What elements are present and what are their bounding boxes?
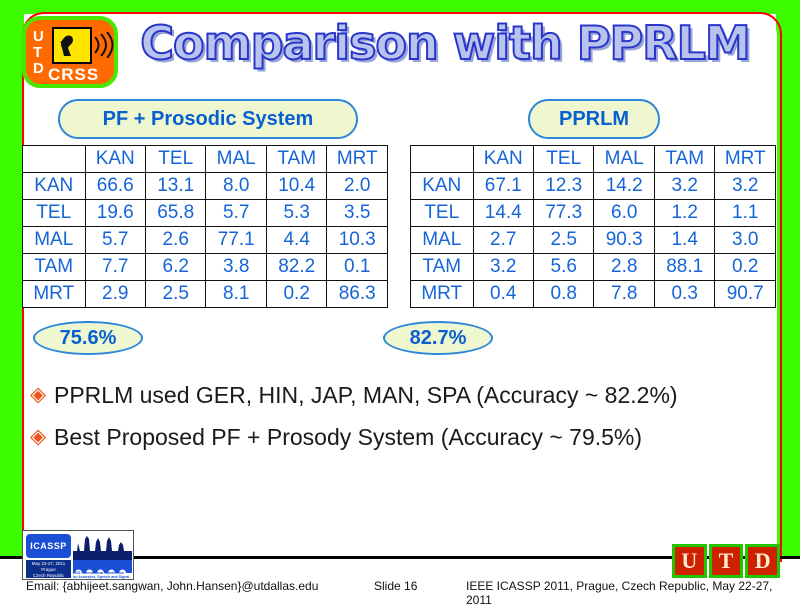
- row-header-tel: TEL: [411, 200, 474, 227]
- row-header-mal: MAL: [411, 227, 474, 254]
- accuracy-badge-right: 82.7%: [383, 321, 493, 355]
- cell-tam-mal: 2.8: [594, 254, 654, 281]
- cell-mal-tel: 2.6: [145, 227, 205, 254]
- icassp-wordmark: ICASSP: [26, 534, 71, 558]
- table-body: KAN67.112.314.23.23.2TEL14.477.36.01.21.…: [411, 173, 776, 308]
- row-header-tam: TAM: [411, 254, 474, 281]
- table-header-row: KANTELMALTAMMRT: [411, 146, 776, 173]
- footer-conference: IEEE ICASSP 2011, Prague, Czech Republic…: [466, 579, 800, 607]
- cell-mal-tam: 4.4: [266, 227, 326, 254]
- utd-letter-d: D: [745, 544, 780, 578]
- cell-mrt-tam: 0.3: [654, 281, 714, 308]
- cell-tam-tel: 6.2: [145, 254, 205, 281]
- panel-caption-right: PPRLM: [528, 99, 660, 139]
- cell-tam-tam: 88.1: [654, 254, 714, 281]
- cell-mrt-tam: 0.2: [266, 281, 326, 308]
- footer-slide-number: Slide 16: [374, 579, 417, 593]
- cell-mrt-kan: 2.9: [85, 281, 145, 308]
- slide-title: Comparison with PPRLM: [120, 14, 770, 74]
- cell-tel-tel: 77.3: [533, 200, 593, 227]
- diamond-bullet-icon: ◈: [30, 380, 54, 410]
- cell-tel-kan: 19.6: [85, 200, 145, 227]
- confusion-matrix-pprlm: KANTELMALTAMMRT KAN67.112.314.23.23.2TEL…: [410, 145, 776, 308]
- prague-skyline-icon: [73, 533, 132, 560]
- cell-mal-kan: 2.7: [473, 227, 533, 254]
- column-header-tel: TEL: [145, 146, 205, 173]
- cell-kan-mal: 8.0: [206, 173, 266, 200]
- row-header-tam: TAM: [23, 254, 86, 281]
- table-row: KAN66.613.18.010.42.0: [23, 173, 388, 200]
- cell-mal-mrt: 3.0: [715, 227, 776, 254]
- table-corner-cell: [23, 146, 86, 173]
- column-header-mrt: MRT: [715, 146, 776, 173]
- column-header-kan: KAN: [473, 146, 533, 173]
- row-header-mrt: MRT: [23, 281, 86, 308]
- cell-mrt-mrt: 90.7: [715, 281, 776, 308]
- cell-tam-mal: 3.8: [206, 254, 266, 281]
- cell-tel-mrt: 1.1: [715, 200, 776, 227]
- row-header-tel: TEL: [23, 200, 86, 227]
- cell-mal-tel: 2.5: [533, 227, 593, 254]
- cell-tam-mrt: 0.1: [327, 254, 388, 281]
- cell-tam-tam: 82.2: [266, 254, 326, 281]
- cell-tel-mal: 6.0: [594, 200, 654, 227]
- column-header-kan: KAN: [85, 146, 145, 173]
- speaker-figure-icon: [58, 33, 86, 60]
- bullet-text: PPRLM used GER, HIN, JAP, MAN, SPA (Accu…: [54, 380, 678, 410]
- cell-kan-tam: 10.4: [266, 173, 326, 200]
- row-header-mrt: MRT: [411, 281, 474, 308]
- table-header-row: KANTELMALTAMMRT: [23, 146, 388, 173]
- crss-letter-t: T: [33, 45, 42, 60]
- icassp-logo: ICASSP May 22-27, 2011PragueCzech Republ…: [22, 530, 134, 580]
- cell-mrt-mrt: 86.3: [327, 281, 388, 308]
- cell-mal-kan: 5.7: [85, 227, 145, 254]
- cell-tel-mrt: 3.5: [327, 200, 388, 227]
- charles-bridge-icon: [73, 560, 132, 570]
- cell-mrt-tel: 0.8: [533, 281, 593, 308]
- frame-green-left: [0, 0, 24, 556]
- row-header-kan: KAN: [23, 173, 86, 200]
- utd-logo: U T D: [672, 544, 780, 578]
- crss-wordmark: CRSS: [48, 65, 99, 85]
- cell-mal-mal: 77.1: [206, 227, 266, 254]
- cell-mrt-kan: 0.4: [473, 281, 533, 308]
- cell-kan-tel: 12.3: [533, 173, 593, 200]
- cell-kan-mrt: 3.2: [715, 173, 776, 200]
- cell-tel-tel: 65.8: [145, 200, 205, 227]
- list-item: ◈ PPRLM used GER, HIN, JAP, MAN, SPA (Ac…: [30, 380, 760, 410]
- table-row: MRT0.40.87.80.390.7: [411, 281, 776, 308]
- utd-letter-u: U: [672, 544, 707, 578]
- utd-crss-logo: U T D CRSS: [22, 16, 118, 88]
- cell-tel-tam: 5.3: [266, 200, 326, 227]
- cell-kan-mal: 14.2: [594, 173, 654, 200]
- crss-letter-d: D: [33, 61, 44, 76]
- cell-tam-kan: 7.7: [85, 254, 145, 281]
- cell-kan-kan: 67.1: [473, 173, 533, 200]
- row-header-kan: KAN: [411, 173, 474, 200]
- accuracy-badge-left: 75.6%: [33, 321, 143, 355]
- column-header-tel: TEL: [533, 146, 593, 173]
- diamond-bullet-icon: ◈: [30, 422, 54, 452]
- icassp-date-block: May 22-27, 2011PragueCzech Republic: [26, 560, 71, 578]
- cell-mrt-mal: 8.1: [206, 281, 266, 308]
- sound-waves-icon: [92, 32, 116, 58]
- slide-footer: Email: {abhijeet.sangwan, John.Hansen}@u…: [0, 579, 800, 597]
- table-row: MRT2.92.58.10.286.3: [23, 281, 388, 308]
- cell-kan-kan: 66.6: [85, 173, 145, 200]
- cell-tam-tel: 5.6: [533, 254, 593, 281]
- cell-kan-mrt: 2.0: [327, 173, 388, 200]
- column-header-mal: MAL: [594, 146, 654, 173]
- skyline-svg: [73, 533, 132, 560]
- cell-mrt-mal: 7.8: [594, 281, 654, 308]
- confusion-matrix-pf-prosodic: KANTELMALTAMMRT KAN66.613.18.010.42.0TEL…: [22, 145, 388, 308]
- icassp-caption: 2011 International Conferenceon Acoustic…: [73, 571, 132, 579]
- cell-mal-tam: 1.4: [654, 227, 714, 254]
- column-header-tam: TAM: [654, 146, 714, 173]
- panel-caption-left: PF + Prosodic System: [58, 99, 358, 139]
- table-row: TAM3.25.62.888.10.2: [411, 254, 776, 281]
- table-row: KAN67.112.314.23.23.2: [411, 173, 776, 200]
- table-row: TEL19.665.85.75.33.5: [23, 200, 388, 227]
- cell-mal-mal: 90.3: [594, 227, 654, 254]
- column-header-mal: MAL: [206, 146, 266, 173]
- bullet-text: Best Proposed PF + Prosody System (Accur…: [54, 422, 642, 452]
- cell-mal-mrt: 10.3: [327, 227, 388, 254]
- table-body: KAN66.613.18.010.42.0TEL19.665.85.75.33.…: [23, 173, 388, 308]
- table-row: TAM7.76.23.882.20.1: [23, 254, 388, 281]
- cell-kan-tam: 3.2: [654, 173, 714, 200]
- cell-tel-mal: 5.7: [206, 200, 266, 227]
- list-item: ◈ Best Proposed PF + Prosody System (Acc…: [30, 422, 760, 452]
- cell-kan-tel: 13.1: [145, 173, 205, 200]
- crss-letter-u: U: [33, 29, 44, 44]
- bullet-list: ◈ PPRLM used GER, HIN, JAP, MAN, SPA (Ac…: [30, 380, 760, 464]
- cell-tam-mrt: 0.2: [715, 254, 776, 281]
- row-header-mal: MAL: [23, 227, 86, 254]
- table-row: MAL5.72.677.14.410.3: [23, 227, 388, 254]
- footer-email: Email: {abhijeet.sangwan, John.Hansen}@u…: [26, 579, 318, 593]
- table-row: TEL14.477.36.01.21.1: [411, 200, 776, 227]
- crss-speaker-icon: [52, 27, 92, 64]
- table-row: MAL2.72.590.31.43.0: [411, 227, 776, 254]
- cell-tel-tam: 1.2: [654, 200, 714, 227]
- utd-letter-t: T: [709, 544, 744, 578]
- column-header-tam: TAM: [266, 146, 326, 173]
- table-corner-cell: [411, 146, 474, 173]
- cell-tam-kan: 3.2: [473, 254, 533, 281]
- slide-canvas: U T D CRSS Comparison with PPRLM PF + Pr…: [0, 0, 800, 598]
- column-header-mrt: MRT: [327, 146, 388, 173]
- cell-mrt-tel: 2.5: [145, 281, 205, 308]
- cell-tel-kan: 14.4: [473, 200, 533, 227]
